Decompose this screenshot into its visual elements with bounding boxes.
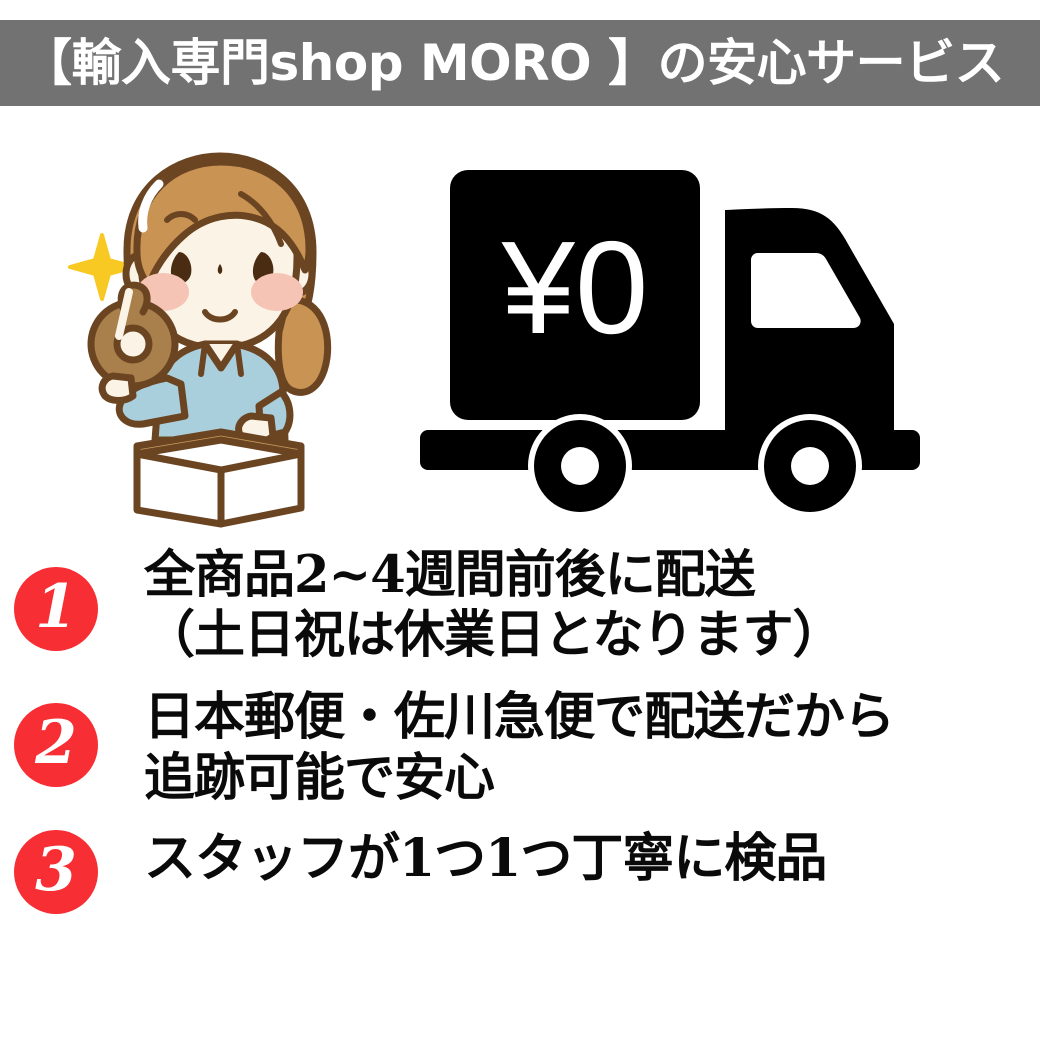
woman-packing-box-illustration [55, 140, 385, 535]
cardboard-box-icon [137, 432, 301, 524]
service-feature-list: 1 全商品2~4週間前後に配送 （土日祝は休業日となります） 2 日本郵便・佐川… [0, 545, 1040, 914]
truck-free-shipping-label: ¥0 [501, 214, 649, 361]
page-title: 【輸入専門shop MORO 】の安心サービス [22, 38, 1004, 88]
header-banner: 【輸入専門shop MORO 】の安心サービス [0, 20, 1040, 106]
feature-number-2: 2 [35, 713, 77, 773]
feature-number-1: 1 [35, 577, 77, 637]
illustration-area: ¥0 [0, 110, 1040, 535]
delivery-truck-icon: ¥0 [420, 148, 1000, 523]
feature-text-2: 日本郵便・佐川急便で配送だから 追跡可能で安心 [144, 687, 1040, 807]
feature-badge-2: 2 [14, 703, 98, 787]
feature-badge-1: 1 [14, 567, 98, 651]
feature-text-3: スタッフが1つ1つ丁寧に検品 [144, 828, 1040, 889]
feature-item-3: 3 スタッフが1つ1つ丁寧に検品 [0, 828, 1040, 914]
feature-number-3: 3 [35, 840, 77, 900]
feature-item-2: 2 日本郵便・佐川急便で配送だから 追跡可能で安心 [0, 687, 1040, 807]
feature-badge-3: 3 [14, 830, 98, 914]
feature-text-1: 全商品2~4週間前後に配送 （土日祝は休業日となります） [144, 545, 1040, 665]
feature-item-1: 1 全商品2~4週間前後に配送 （土日祝は休業日となります） [0, 545, 1040, 665]
